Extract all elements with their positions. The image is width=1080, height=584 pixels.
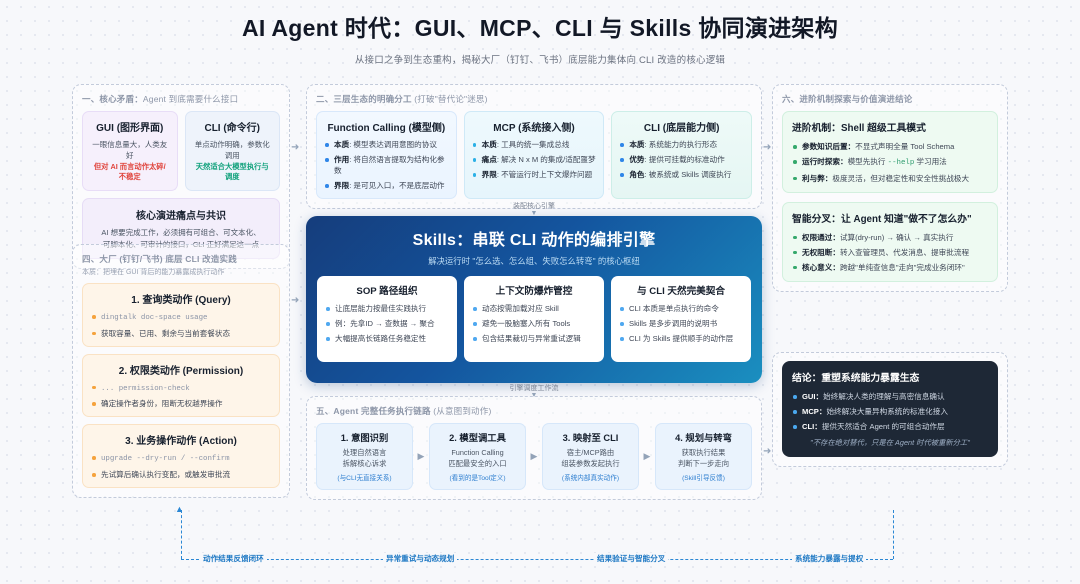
card-shell-mode-list: 参数知识后置：不显式声明全量 Tool Schema 运行时探索：模型先执行 -… [792, 141, 988, 184]
card-cli-advantage: 天然适合大模型执行与调度 [194, 162, 272, 184]
card-practice-action-title: 3. 业务操作动作 (Action) [91, 432, 271, 447]
list-item: 核心意义：跨越"单纯查信息"走向"完成业务闭环" [792, 262, 988, 273]
flow-step-tool-call-line2: 匹配最安全的入口 [434, 459, 521, 470]
list-item: 角色: 被系统或 Skills 调度执行 [619, 169, 744, 180]
three-layer-cards: Function Calling (模型侧) 本质: 模型表达调用意图的协议 作… [316, 111, 752, 199]
flow-step-plan-pivot-line2: 判断下一步走向 [660, 459, 747, 470]
list-item: 参数知识后置：不显式声明全量 Tool Schema [792, 141, 988, 152]
page-subtitle: 从接口之争到生态重构，揭秘大厂（钉钉、飞书）底层能力集体向 CLI 改造的核心逻… [0, 52, 1080, 66]
panel-advanced-mechanisms-title: 六、进阶机制探索与价值演进结论 [782, 93, 998, 105]
list-item: GUI：始终解决人类的理解与高密信息确认 [792, 391, 988, 402]
card-sop-list: 让底层能力按最佳实践执行 例：先拿ID → 查数据 → 聚合 大幅提高长链路任务… [325, 303, 449, 344]
card-cli[interactable]: CLI (命令行) 单点动作明确，参数化调用 天然适合大模型执行与调度 [185, 111, 281, 191]
card-gui-title: GUI (图形界面) [91, 119, 169, 134]
card-core-pain-title: 核心演进痛点与共识 [91, 207, 271, 222]
card-practice-query-title: 1. 查询类动作 (Query) [91, 291, 271, 306]
card-sop-title: SOP 路径组织 [325, 283, 449, 297]
card-practice-query[interactable]: 1. 查询类动作 (Query) dingtalk doc-space usag… [82, 283, 280, 347]
footer-label-1: 动作结果反馈闭环 [200, 553, 267, 564]
arrow-right-icon: ▶ [526, 423, 542, 490]
arrow-right-icon: ➜ [291, 142, 299, 153]
list-item: upgrade --dry-run / --confirm [91, 452, 271, 465]
list-item: dingtalk doc-space usage [91, 311, 271, 324]
panel-three-layers-title: 二、三层生态的明确分工 (打破"替代论"迷思) [316, 93, 752, 105]
skills-cards: SOP 路径组织 让底层能力按最佳实践执行 例：先拿ID → 查数据 → 聚合 … [317, 276, 751, 362]
agent-flow-steps: 1. 意图识别 处理自然语言 拆解核心诉求 (与CLI无直接关系) ▶ 2. 模… [316, 423, 752, 490]
page-header: AI Agent 时代：GUI、MCP、CLI 与 Skills 协同演进架构 … [0, 0, 1080, 66]
list-item: 包含结果裁切与异常重试逻辑 [472, 333, 596, 344]
feedback-loop-left-vertical [181, 510, 182, 559]
infographic-page: AI Agent 时代：GUI、MCP、CLI 与 Skills 协同演进架构 … [0, 0, 1080, 584]
card-context-control-list: 动态按需加载对应 Skill 避免一股脑塞入所有 Tools 包含结果裁切与异常… [472, 303, 596, 344]
flow-step-plan-pivot-line1: 获取执行结果 [660, 448, 747, 459]
card-sop[interactable]: SOP 路径组织 让底层能力按最佳实践执行 例：先拿ID → 查数据 → 聚合 … [317, 276, 457, 362]
card-practice-permission[interactable]: 2. 权限类动作 (Permission) ... permission-che… [82, 354, 280, 418]
card-conclusion-list: GUI：始终解决人类的理解与高密信息确认 MCP：始终解决大量异构系统的标准化接… [792, 391, 988, 432]
list-item: 例：先拿ID → 查数据 → 聚合 [325, 318, 449, 329]
list-item: 本质: 系统能力的执行形态 [619, 139, 744, 150]
list-item: 界限: 不管运行时上下文爆炸问题 [472, 169, 597, 180]
footer-label-2: 异常重试与动态规划 [383, 553, 457, 564]
list-item: 权限通过：试算(dry-run) → 确认 → 真实执行 [792, 232, 988, 243]
list-item: 确定操作者身份，阻断无权越界操作 [91, 398, 271, 409]
arrow-right-icon: ▶ [639, 423, 655, 490]
feedback-loop-baseline [181, 559, 893, 560]
list-item: 获取容量、已用、剩余与当前套餐状态 [91, 328, 271, 339]
list-item: 本质: 工具的统一集成总线 [472, 139, 597, 150]
flow-step-intent-line1: 处理自然语言 [321, 448, 408, 459]
skills-subtitle: 解决运行时 "怎么选、怎么组、失败怎么转弯" 的核心枢纽 [317, 255, 751, 267]
list-item: 先试算后确认执行变配，或触发审批流 [91, 469, 271, 480]
flow-step-tool-call-line1: Function Calling [434, 448, 521, 459]
list-item: ... permission-check [91, 382, 271, 395]
flow-step-map-cli-line1: 宿主/MCP路由 [547, 448, 634, 459]
card-conclusion[interactable]: 结论：重塑系统能力暴露生态 GUI：始终解决人类的理解与高密信息确认 MCP：始… [782, 361, 998, 457]
flow-step-intent-line2: 拆解核心诉求 [321, 459, 408, 470]
list-item: MCP：始终解决大量异构系统的标准化接入 [792, 406, 988, 417]
arrow-up-icon: ▲ [175, 504, 184, 514]
flow-step-plan-pivot-note: (Skill引导反馈) [660, 472, 747, 482]
list-item: CLI：提供天然适合 Agent 的可组合动作层 [792, 421, 988, 432]
list-item: 界限: 是可见入口，不是底层动作 [324, 180, 449, 191]
connector-assemble-engine: 装配核心引擎 ▼ [306, 201, 762, 216]
list-item: 优势: 提供可挂载的标准动作 [619, 154, 744, 165]
card-cli-fit-list: CLI 本质是单点执行的命令 Skills 是多步调用的说明书 CLI 为 Sk… [619, 303, 743, 344]
flow-step-tool-call-title: 2. 模型调工具 [434, 430, 521, 444]
panel-advanced-mechanisms: 六、进阶机制探索与价值演进结论 进阶机制：Shell 超级工具模式 参数知识后置… [772, 84, 1008, 292]
list-item: 运行时探索：模型先执行 --help 学习用法 [792, 156, 988, 169]
flow-step-intent[interactable]: 1. 意图识别 处理自然语言 拆解核心诉求 (与CLI无直接关系) [316, 423, 413, 490]
list-item: 利与弊：极度灵活，但对稳定性和安全性挑战极大 [792, 173, 988, 184]
card-function-calling-list: 本质: 模型表达调用意图的协议 作用: 将自然语言提取为结构化参数 界限: 是可… [324, 139, 449, 191]
flow-step-intent-title: 1. 意图识别 [321, 430, 408, 444]
card-smart-fork-list: 权限通过：试算(dry-run) → 确认 → 真实执行 无权阻断：转入查管理员… [792, 232, 988, 273]
card-cli-layer-list: 本质: 系统能力的执行形态 优势: 提供可挂载的标准动作 角色: 被系统或 Sk… [619, 139, 744, 180]
list-item: 无权阻断：转入查管理员、代发消息、提审批流程 [792, 247, 988, 258]
card-gui-line: 一眼信息量大，人类友好 [91, 139, 169, 162]
list-item: 作用: 将自然语言提取为结构化参数 [324, 154, 449, 176]
panel-agent-flow: 五、Agent 完整任务执行链路 (从意图到动作) 1. 意图识别 处理自然语言… [306, 396, 762, 500]
panel-cli-practice-title: 四、大厂 (钉钉/飞书) 底层 CLI 改造实践 [82, 253, 280, 265]
card-cli-fit-title: 与 CLI 天然完美契合 [619, 283, 743, 297]
card-function-calling-title: Function Calling (模型侧) [324, 119, 449, 134]
flow-step-tool-call[interactable]: 2. 模型调工具 Function Calling 匹配最安全的入口 (看到的是… [429, 423, 526, 490]
panel-agent-flow-title: 五、Agent 完整任务执行链路 (从意图到动作) [316, 405, 752, 417]
flow-step-map-cli-line2: 组装参数发起执行 [547, 459, 634, 470]
card-smart-fork[interactable]: 智能分叉：让 Agent 知道"做不了怎么办" 权限通过：试算(dry-run)… [782, 202, 998, 282]
card-cli-layer[interactable]: CLI (底层能力侧) 本质: 系统能力的执行形态 优势: 提供可挂载的标准动作… [611, 111, 752, 199]
card-practice-action[interactable]: 3. 业务操作动作 (Action) upgrade --dry-run / -… [82, 424, 280, 488]
card-cli-title: CLI (命令行) [194, 119, 272, 134]
list-item: Skills 是多步调用的说明书 [619, 318, 743, 329]
card-core-pain-line1: AI 想要完成工作，必须拥有可组合、可文本化、 [91, 227, 271, 238]
panel-cli-practice: 四、大厂 (钉钉/飞书) 底层 CLI 改造实践 本质：把埋在 GUI 背后的能… [72, 244, 290, 498]
card-mcp-title: MCP (系统接入侧) [472, 119, 597, 134]
card-shell-mode[interactable]: 进阶机制：Shell 超级工具模式 参数知识后置：不显式声明全量 Tool Sc… [782, 111, 998, 193]
feedback-loop-right-vertical [893, 510, 894, 559]
card-gui[interactable]: GUI (图形界面) 一眼信息量大，人类友好 但对 AI 而言动作太碎/不稳定 [82, 111, 178, 191]
card-practice-action-list: upgrade --dry-run / --confirm 先试算后确认执行变配… [91, 452, 271, 480]
panel-core-conflict-title: 一、核心矛盾：Agent 到底需要什么接口 [82, 93, 280, 105]
list-item: 本质: 模型表达调用意图的协议 [324, 139, 449, 150]
list-item: 动态按需加载对应 Skill [472, 303, 596, 314]
arrow-right-icon: ➜ [291, 295, 299, 306]
card-practice-permission-list: ... permission-check 确定操作者身份，阻断无权越界操作 [91, 382, 271, 410]
panel-three-layers: 二、三层生态的明确分工 (打破"替代论"迷思) Function Calling… [306, 84, 762, 209]
card-context-control-title: 上下文防爆炸管控 [472, 283, 596, 297]
card-mcp-list: 本质: 工具的统一集成总线 痛点: 解决 N x M 的集成/适配噩梦 界限: … [472, 139, 597, 180]
list-item: CLI 本质是单点执行的命令 [619, 303, 743, 314]
flow-step-intent-note: (与CLI无直接关系) [321, 472, 408, 482]
card-mcp[interactable]: MCP (系统接入侧) 本质: 工具的统一集成总线 痛点: 解决 N x M 的… [464, 111, 605, 199]
card-function-calling[interactable]: Function Calling (模型侧) 本质: 模型表达调用意图的协议 作… [316, 111, 457, 199]
card-shell-mode-title: 进阶机制：Shell 超级工具模式 [792, 120, 988, 134]
flow-step-map-cli[interactable]: 3. 映射至 CLI 宿主/MCP路由 组装参数发起执行 (系统内部真实动作) [542, 423, 639, 490]
footer-label-3: 结果验证与智能分叉 [594, 553, 668, 564]
list-item: 让底层能力按最佳实践执行 [325, 303, 449, 314]
arrow-right-icon: ➜ [763, 446, 771, 457]
panel-core-conflict: 一、核心矛盾：Agent 到底需要什么接口 GUI (图形界面) 一眼信息量大，… [72, 84, 290, 269]
flow-step-plan-pivot-title: 4. 规划与转弯 [660, 430, 747, 444]
card-conclusion-quote: "不存在绝对替代，只是在 Agent 时代被重新分工" [792, 438, 988, 448]
arrow-right-icon: ▶ [413, 423, 429, 490]
flow-step-map-cli-note: (系统内部真实动作) [547, 472, 634, 482]
flow-step-map-cli-title: 3. 映射至 CLI [547, 430, 634, 444]
gui-cli-compare: GUI (图形界面) 一眼信息量大，人类友好 但对 AI 而言动作太碎/不稳定 … [82, 111, 280, 191]
card-cli-layer-title: CLI (底层能力侧) [619, 119, 744, 134]
card-cli-line: 单点动作明确，参数化调用 [194, 139, 272, 162]
list-item: 大幅提高长链路任务稳定性 [325, 333, 449, 344]
card-practice-query-list: dingtalk doc-space usage 获取容量、已用、剩余与当前套餐… [91, 311, 271, 339]
card-cli-fit[interactable]: 与 CLI 天然完美契合 CLI 本质是单点执行的命令 Skills 是多步调用… [611, 276, 751, 362]
card-practice-permission-title: 2. 权限类动作 (Permission) [91, 362, 271, 377]
panel-conclusion: 结论：重塑系统能力暴露生态 GUI：始终解决人类的理解与高密信息确认 MCP：始… [772, 352, 1008, 467]
card-context-control[interactable]: 上下文防爆炸管控 动态按需加载对应 Skill 避免一股脑塞入所有 Tools … [464, 276, 604, 362]
skills-title: Skills：串联 CLI 动作的编排引擎 [317, 226, 751, 250]
flow-step-plan-pivot[interactable]: 4. 规划与转弯 获取执行结果 判断下一步走向 (Skill引导反馈) [655, 423, 752, 490]
footer-label-4: 系统能力暴露与提权 [792, 553, 866, 564]
card-smart-fork-title: 智能分叉：让 Agent 知道"做不了怎么办" [792, 211, 988, 225]
list-item: 痛点: 解决 N x M 的集成/适配噩梦 [472, 154, 597, 165]
page-title: AI Agent 时代：GUI、MCP、CLI 与 Skills 协同演进架构 [0, 9, 1080, 43]
skills-engine-panel: Skills：串联 CLI 动作的编排引擎 解决运行时 "怎么选、怎么组、失败怎… [306, 216, 762, 383]
card-gui-warning: 但对 AI 而言动作太碎/不稳定 [91, 162, 169, 184]
list-item: 避免一股脑塞入所有 Tools [472, 318, 596, 329]
list-item: CLI 为 Skills 提供顺手的动作层 [619, 333, 743, 344]
card-conclusion-title: 结论：重塑系统能力暴露生态 [792, 370, 988, 384]
flow-step-tool-call-note: (看到的是Tool定义) [434, 472, 521, 482]
panel-cli-practice-subtitle: 本质：把埋在 GUI 背后的能力暴露成执行动作 [82, 267, 280, 277]
arrow-right-icon: ➜ [763, 142, 771, 153]
